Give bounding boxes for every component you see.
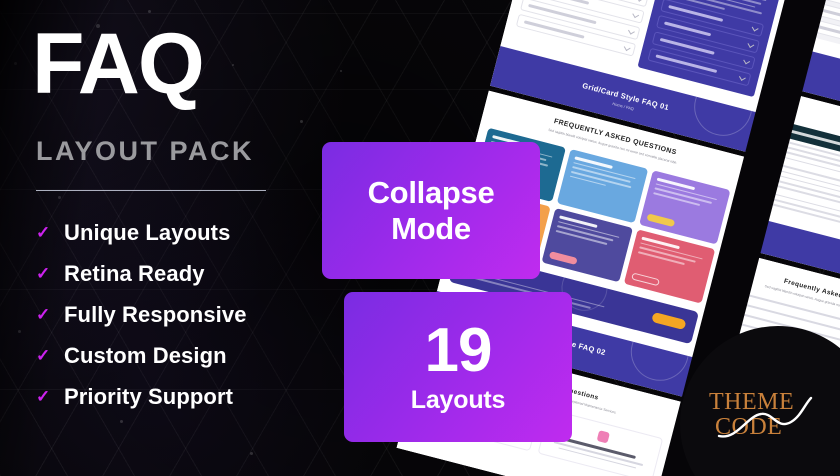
page-subtitle: LAYOUT PACK	[36, 136, 254, 167]
badge-layout-count: 19 Layouts	[344, 292, 572, 442]
check-icon: ✓	[36, 224, 56, 241]
feature-label: Priority Support	[64, 384, 233, 410]
feature-item-custom-design: ✓ Custom Design	[36, 335, 366, 376]
feature-list: ✓ Unique Layouts ✓ Retina Ready ✓ Fully …	[36, 212, 366, 417]
feature-label: Unique Layouts	[64, 220, 230, 246]
check-icon: ✓	[36, 347, 56, 364]
logo-swoosh-icon	[717, 396, 813, 440]
mockup-cta-button	[651, 312, 686, 330]
feature-item-unique-layouts: ✓ Unique Layouts	[36, 212, 366, 253]
feature-item-fully-responsive: ✓ Fully Responsive	[36, 294, 366, 335]
feature-label: Retina Ready	[64, 261, 205, 287]
layout-count: 19	[425, 320, 492, 382]
divider	[36, 190, 266, 191]
badge-collapse-mode: Collapse Mode	[322, 142, 540, 279]
page-title: FAQ	[32, 24, 203, 106]
brand-logo: THEME CODE	[709, 390, 817, 444]
layout-count-label: Layouts	[411, 386, 505, 415]
check-icon: ✓	[36, 265, 56, 282]
check-icon: ✓	[36, 388, 56, 405]
promo-banner: Grid/Card Style FAQ 01 Home / FAQ FREQUE…	[0, 0, 840, 476]
feature-label: Fully Responsive	[64, 302, 247, 328]
feature-label: Custom Design	[64, 343, 227, 369]
check-icon: ✓	[36, 306, 56, 323]
feature-item-priority-support: ✓ Priority Support	[36, 376, 366, 417]
badge-line-1: Collapse	[368, 175, 495, 210]
badge-line-2: Mode	[391, 211, 471, 246]
feature-item-retina-ready: ✓ Retina Ready	[36, 253, 366, 294]
